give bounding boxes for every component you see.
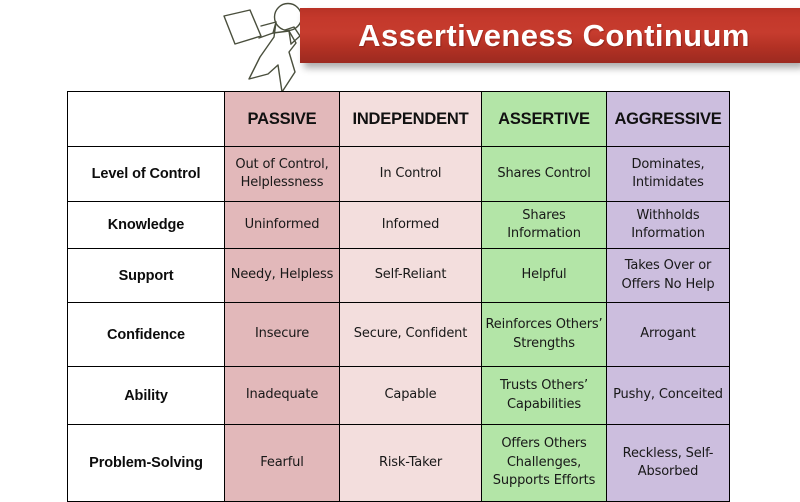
cell-passive-level-of-control: Out of Control, Helplessness — [225, 147, 340, 202]
cell-independent-problem-solving: Risk-Taker — [340, 425, 482, 502]
cell-passive-confidence: Insecure — [225, 303, 340, 367]
table-row: Confidence Insecure Secure, Confident Re… — [68, 303, 730, 367]
cell-independent-support: Self-Reliant — [340, 249, 482, 303]
cell-passive-problem-solving: Fearful — [225, 425, 340, 502]
page-title: Assertiveness Continuum — [358, 18, 750, 54]
cell-independent-ability: Capable — [340, 367, 482, 425]
header-cell-passive: PASSIVE — [225, 92, 340, 147]
cell-assertive-ability: Trusts Others’ Capabilities — [482, 367, 607, 425]
title-banner: Assertiveness Continuum — [300, 8, 800, 63]
assertiveness-continuum-table: PASSIVE INDEPENDENT ASSERTIVE AGGRESSIVE… — [67, 91, 730, 502]
row-label-ability: Ability — [68, 367, 225, 425]
table-header-row: PASSIVE INDEPENDENT ASSERTIVE AGGRESSIVE — [68, 92, 730, 147]
table-row: Problem-Solving Fearful Risk-Taker Offer… — [68, 425, 730, 502]
row-label-problem-solving: Problem-Solving — [68, 425, 225, 502]
cell-assertive-level-of-control: Shares Control — [482, 147, 607, 202]
cell-assertive-problem-solving: Offers Others Challenges, Supports Effor… — [482, 425, 607, 502]
table-row: Knowledge Uninformed Informed Shares Inf… — [68, 202, 730, 249]
cell-passive-ability: Inadequate — [225, 367, 340, 425]
cell-assertive-support: Helpful — [482, 249, 607, 303]
title-banner-area: Assertiveness Continuum — [0, 0, 800, 90]
header-cell-independent: INDEPENDENT — [340, 92, 482, 147]
table-row: Support Needy, Helpless Self-Reliant Hel… — [68, 249, 730, 303]
row-label-confidence: Confidence — [68, 303, 225, 367]
cell-aggressive-problem-solving: Reckless, Self-Absorbed — [607, 425, 730, 502]
header-cell-assertive: ASSERTIVE — [482, 92, 607, 147]
cell-passive-knowledge: Uninformed — [225, 202, 340, 249]
cell-aggressive-confidence: Arrogant — [607, 303, 730, 367]
cell-assertive-confidence: Reinforces Others’ Strengths — [482, 303, 607, 367]
cell-independent-confidence: Secure, Confident — [340, 303, 482, 367]
cell-aggressive-knowledge: Withholds Information — [607, 202, 730, 249]
cell-assertive-knowledge: Shares Information — [482, 202, 607, 249]
cell-aggressive-ability: Pushy, Conceited — [607, 367, 730, 425]
row-label-level-of-control: Level of Control — [68, 147, 225, 202]
cell-passive-support: Needy, Helpless — [225, 249, 340, 303]
cell-aggressive-level-of-control: Dominates, Intimidates — [607, 147, 730, 202]
row-label-support: Support — [68, 249, 225, 303]
table-row: Level of Control Out of Control, Helples… — [68, 147, 730, 202]
row-label-knowledge: Knowledge — [68, 202, 225, 249]
header-cell-aggressive: AGGRESSIVE — [607, 92, 730, 147]
cell-independent-knowledge: Informed — [340, 202, 482, 249]
header-cell-blank — [68, 92, 225, 147]
table-row: Ability Inadequate Capable Trusts Others… — [68, 367, 730, 425]
cell-independent-level-of-control: In Control — [340, 147, 482, 202]
cell-aggressive-support: Takes Over or Offers No Help — [607, 249, 730, 303]
